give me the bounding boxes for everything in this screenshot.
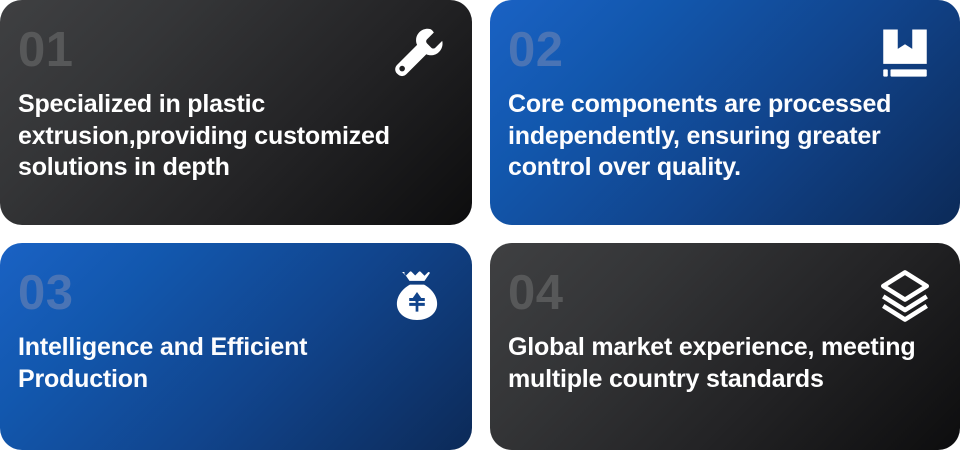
feature-card-04[interactable]: 04 Global market experience, meeting mul… — [490, 243, 960, 450]
feature-card-01[interactable]: 01 Specialized in plastic extrusion,prov… — [0, 0, 472, 225]
card-text: Global market experience, meeting multip… — [508, 332, 930, 395]
card-number: 03 — [18, 269, 442, 318]
feature-card-02[interactable]: 02 Core components are processed indepen… — [490, 0, 960, 225]
card-number: 01 — [18, 26, 442, 75]
card-text: Intelligence and Efficient Production — [18, 332, 442, 395]
card-text: Core components are processed independen… — [508, 89, 930, 184]
feature-card-grid: 01 Specialized in plastic extrusion,prov… — [0, 0, 960, 459]
feature-card-03[interactable]: 03 Intelligence and Efficient Production — [0, 243, 472, 450]
card-text: Specialized in plastic extrusion,providi… — [18, 89, 442, 184]
card-number: 02 — [508, 26, 930, 75]
card-number: 04 — [508, 269, 930, 318]
